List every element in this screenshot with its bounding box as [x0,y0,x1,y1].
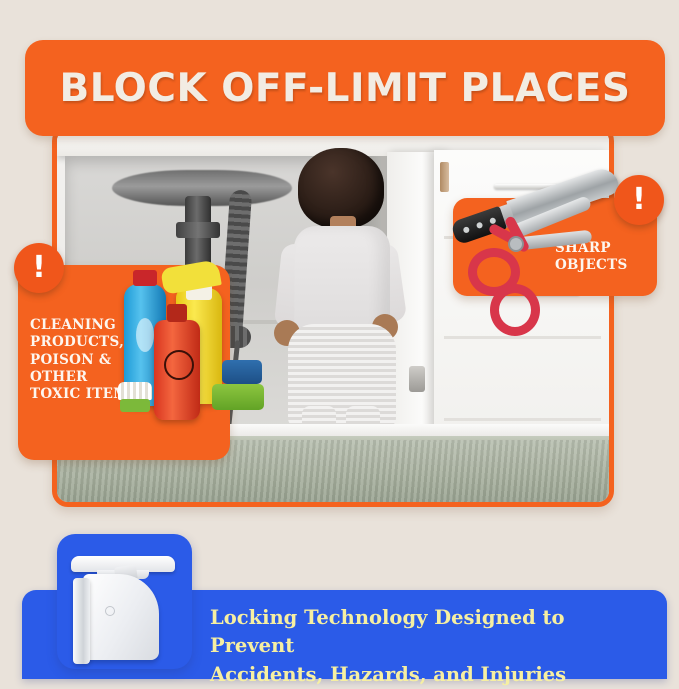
pipe-flange-upper [176,222,220,238]
brush-bristles [118,382,152,400]
header-banner: BLOCK OFF-LIMIT PLACES [25,40,665,136]
lock-rail [73,578,90,664]
cabinet-lock-tile [57,534,192,669]
blue-sponge-icon [222,360,262,384]
exclamation-icon: ! [32,253,46,283]
bottle-handle-hole [136,318,154,352]
bottle-cap [133,270,157,286]
lock-body [83,574,159,660]
bottom-banner-text: Locking Technology Designed to Prevent A… [210,604,640,689]
scissors-icon [470,222,600,332]
hinge-icon [440,162,449,192]
exclamation-icon: ! [632,185,646,215]
cabinet-latch [409,366,425,392]
drawer-seam [444,418,601,421]
lock-screw-hole [105,606,115,616]
bottom-banner-line2: Accidents, Hazards, and Injuries [210,661,640,689]
cleaning-products-group [112,272,272,422]
infographic-root: BLOCK OFF-LIMIT PLACES [0,0,679,679]
brush-base [120,399,150,412]
drawer-seam [444,336,601,339]
poison-warning-icon [164,350,194,380]
scrub-brush-icon [118,382,152,412]
warning-badge-left: ! [14,243,64,293]
warning-badge-right: ! [614,175,664,225]
cabinet-lock-icon [57,534,192,669]
scissors-pivot [508,236,524,252]
bottle-cap [167,304,187,322]
red-poison-bottle-icon [154,320,200,420]
page-title: BLOCK OFF-LIMIT PLACES [59,66,630,111]
bottom-banner-line1: Locking Technology Designed to Prevent [210,604,640,661]
scissors-ring-lower [490,284,540,336]
green-sponge-icon [212,384,264,410]
